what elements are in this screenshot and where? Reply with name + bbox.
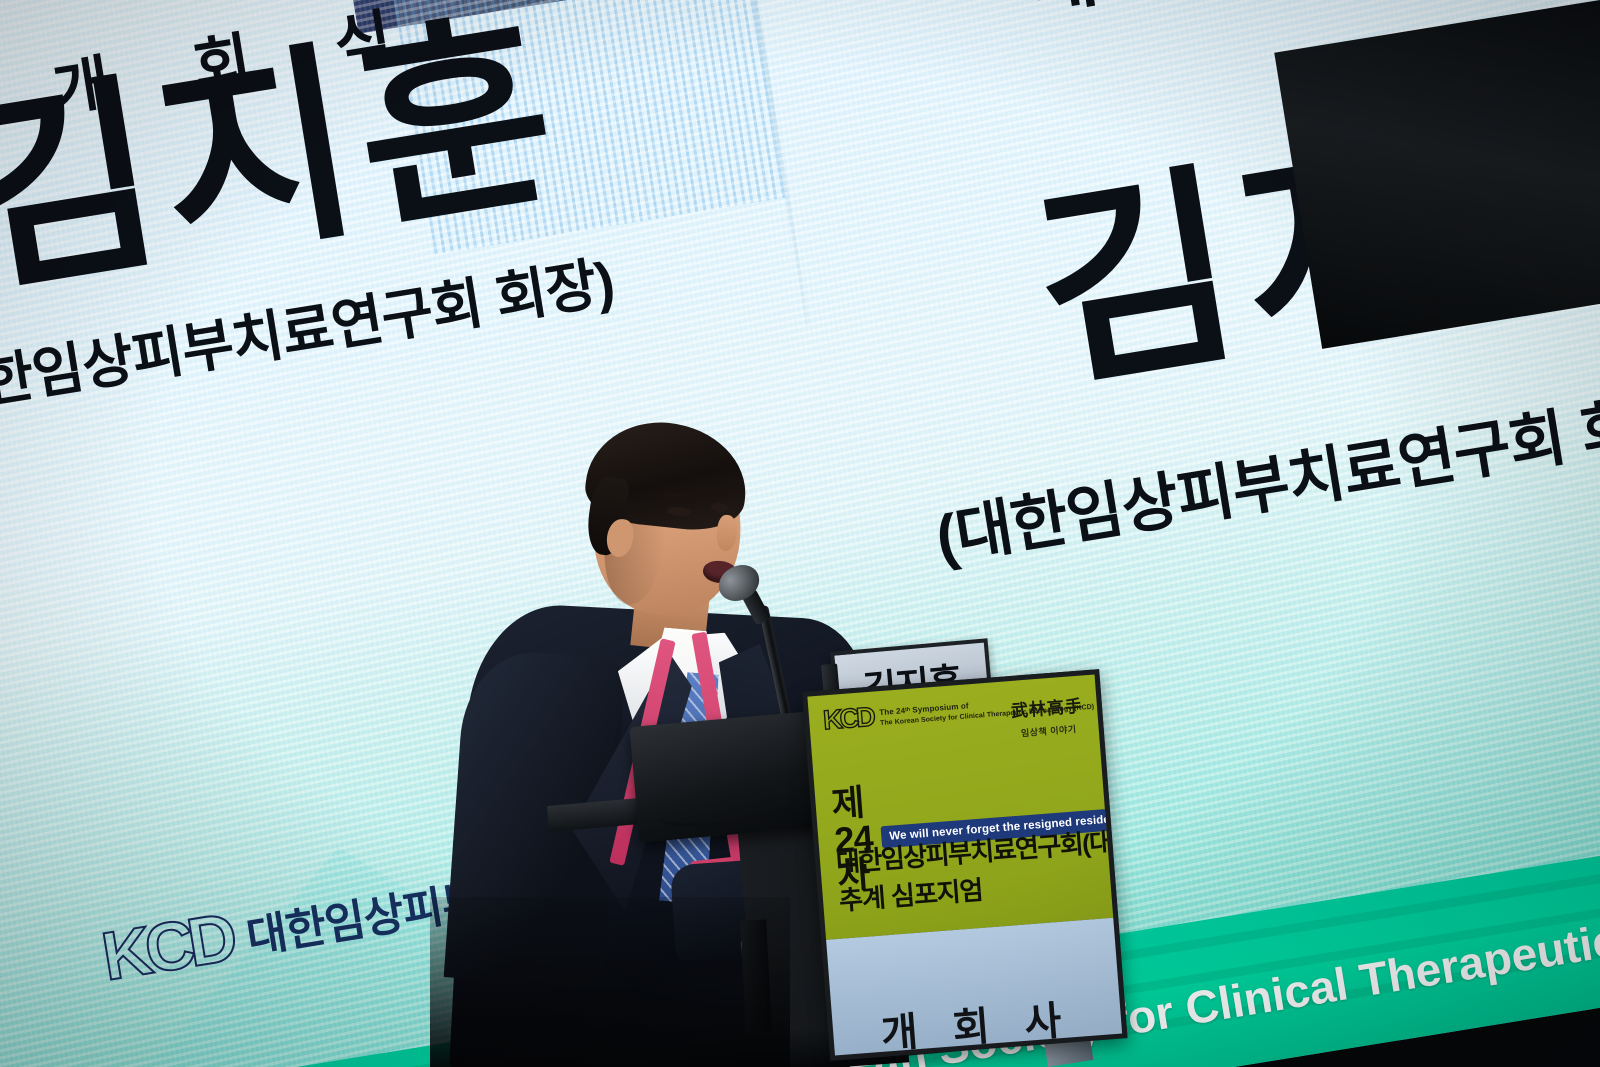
signboard-kcd-mark: KCD — [822, 704, 873, 735]
foreground-shadow — [430, 897, 790, 1067]
signboard-theme-hanja: 武林高手 — [1010, 692, 1084, 722]
eyebrow-right — [709, 488, 731, 495]
signboard-session-label: 개 회 사 — [831, 984, 1123, 1064]
signboard-theme-korean: 임상책 이야기 — [1012, 721, 1085, 739]
signboard-theme: 武林高手 임상책 이야기 — [1010, 692, 1085, 740]
signboard-green-panel: KCD The 24ᵗʰ Symposium of The Korean Soc… — [807, 675, 1113, 940]
right-dark-ceiling-strip — [1274, 0, 1600, 349]
signboard-blue-panel: 개 회 사 — [826, 918, 1122, 1056]
podium-signboard: KCD The 24ᵗʰ Symposium of The Korean Soc… — [802, 669, 1128, 1061]
conference-photo-stage: 개 회 식 김지훈 (대한임상피부치료연구회 회장) 료연구회 The Kore… — [0, 0, 1600, 1067]
